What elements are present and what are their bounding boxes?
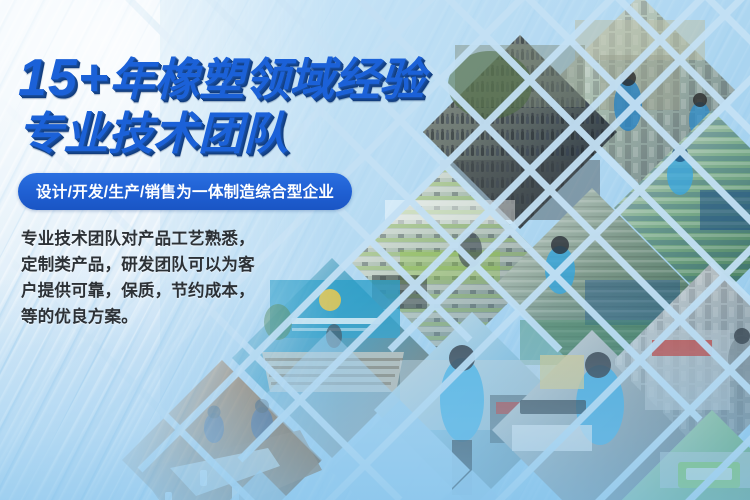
tile-qc-assembly-line <box>494 188 690 384</box>
headline-text-block: 15+年橡塑领域经验 专业技术团队 设计/开发/生产/销售为一体制造综合型企业 … <box>18 50 458 330</box>
tile-operator-at-machine <box>374 312 570 500</box>
tile-inspection-benches <box>614 110 750 306</box>
headline-years-number: 15+ <box>18 49 109 107</box>
tile-machine-shop <box>612 262 750 462</box>
tagline-badge: 设计/开发/生产/销售为一体制造综合型企业 <box>18 173 352 210</box>
headline-line-1-rest: 年橡塑领域经验 <box>109 54 424 105</box>
tile-injection-molding-machines <box>545 0 735 185</box>
company-banner: 15+年橡塑领域经验 专业技术团队 设计/开发/生产/销售为一体制造综合型企业 … <box>0 0 750 500</box>
tile-meeting-room <box>122 360 322 500</box>
tile-parts-tray <box>612 410 750 500</box>
headline-line-1: 15+年橡塑领域经验 <box>18 50 458 106</box>
collage-empty-tiles <box>190 330 545 500</box>
tile-technician-at-keyboard <box>492 330 692 500</box>
description-paragraph: 专业技术团队对产品工艺熟悉，定制类产品，研发团队可以为客户提供可靠，保质，节约成… <box>21 226 271 330</box>
headline-line-2: 专业技术团队 <box>18 110 458 159</box>
